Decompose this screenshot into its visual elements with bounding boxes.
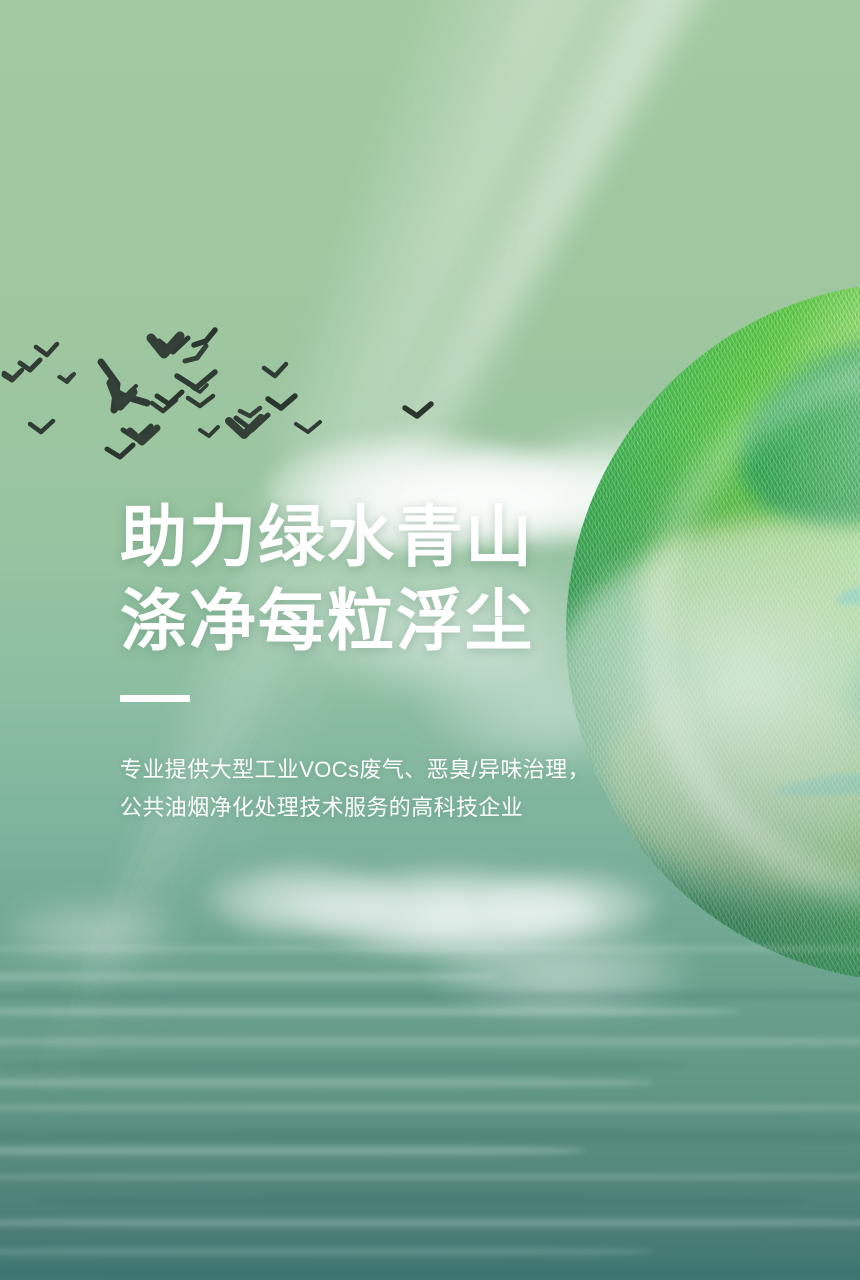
- globe-landmass: [833, 571, 860, 820]
- water-surface-reflection: [0, 930, 860, 1280]
- hero-banner: 助力绿水青山 涤净每粒浮尘 专业提供大型工业VOCs废气、恶臭/异味治理， 公共…: [0, 0, 860, 1280]
- subtitle-line-2: 公共油烟净化处理技术服务的高科技企业: [120, 789, 680, 827]
- flying-birds-flock: [0, 320, 480, 480]
- globe-water-channel: [775, 763, 860, 801]
- headline-line-1: 助力绿水青山: [120, 496, 680, 580]
- globe-landmass: [713, 295, 860, 563]
- cloud-low-right: [480, 870, 660, 940]
- headline-line-2: 涤净每粒浮尘: [120, 580, 680, 664]
- cloud-behind-globe: [430, 930, 690, 1010]
- subtitle-block: 专业提供大型工业VOCs废气、恶臭/异味治理， 公共油烟净化处理技术服务的高科技…: [120, 751, 680, 827]
- cloud-low-left: [205, 862, 395, 936]
- subtitle-line-1: 专业提供大型工业VOCs废气、恶臭/异味治理，: [120, 751, 680, 789]
- hero-copy: 助力绿水青山 涤净每粒浮尘 专业提供大型工业VOCs废气、恶臭/异味治理， 公共…: [120, 496, 680, 827]
- cloud-low-center: [300, 868, 600, 954]
- cloud-low-far-left: [0, 900, 180, 960]
- headline-divider: [120, 695, 190, 702]
- globe-water-channel: [832, 537, 860, 615]
